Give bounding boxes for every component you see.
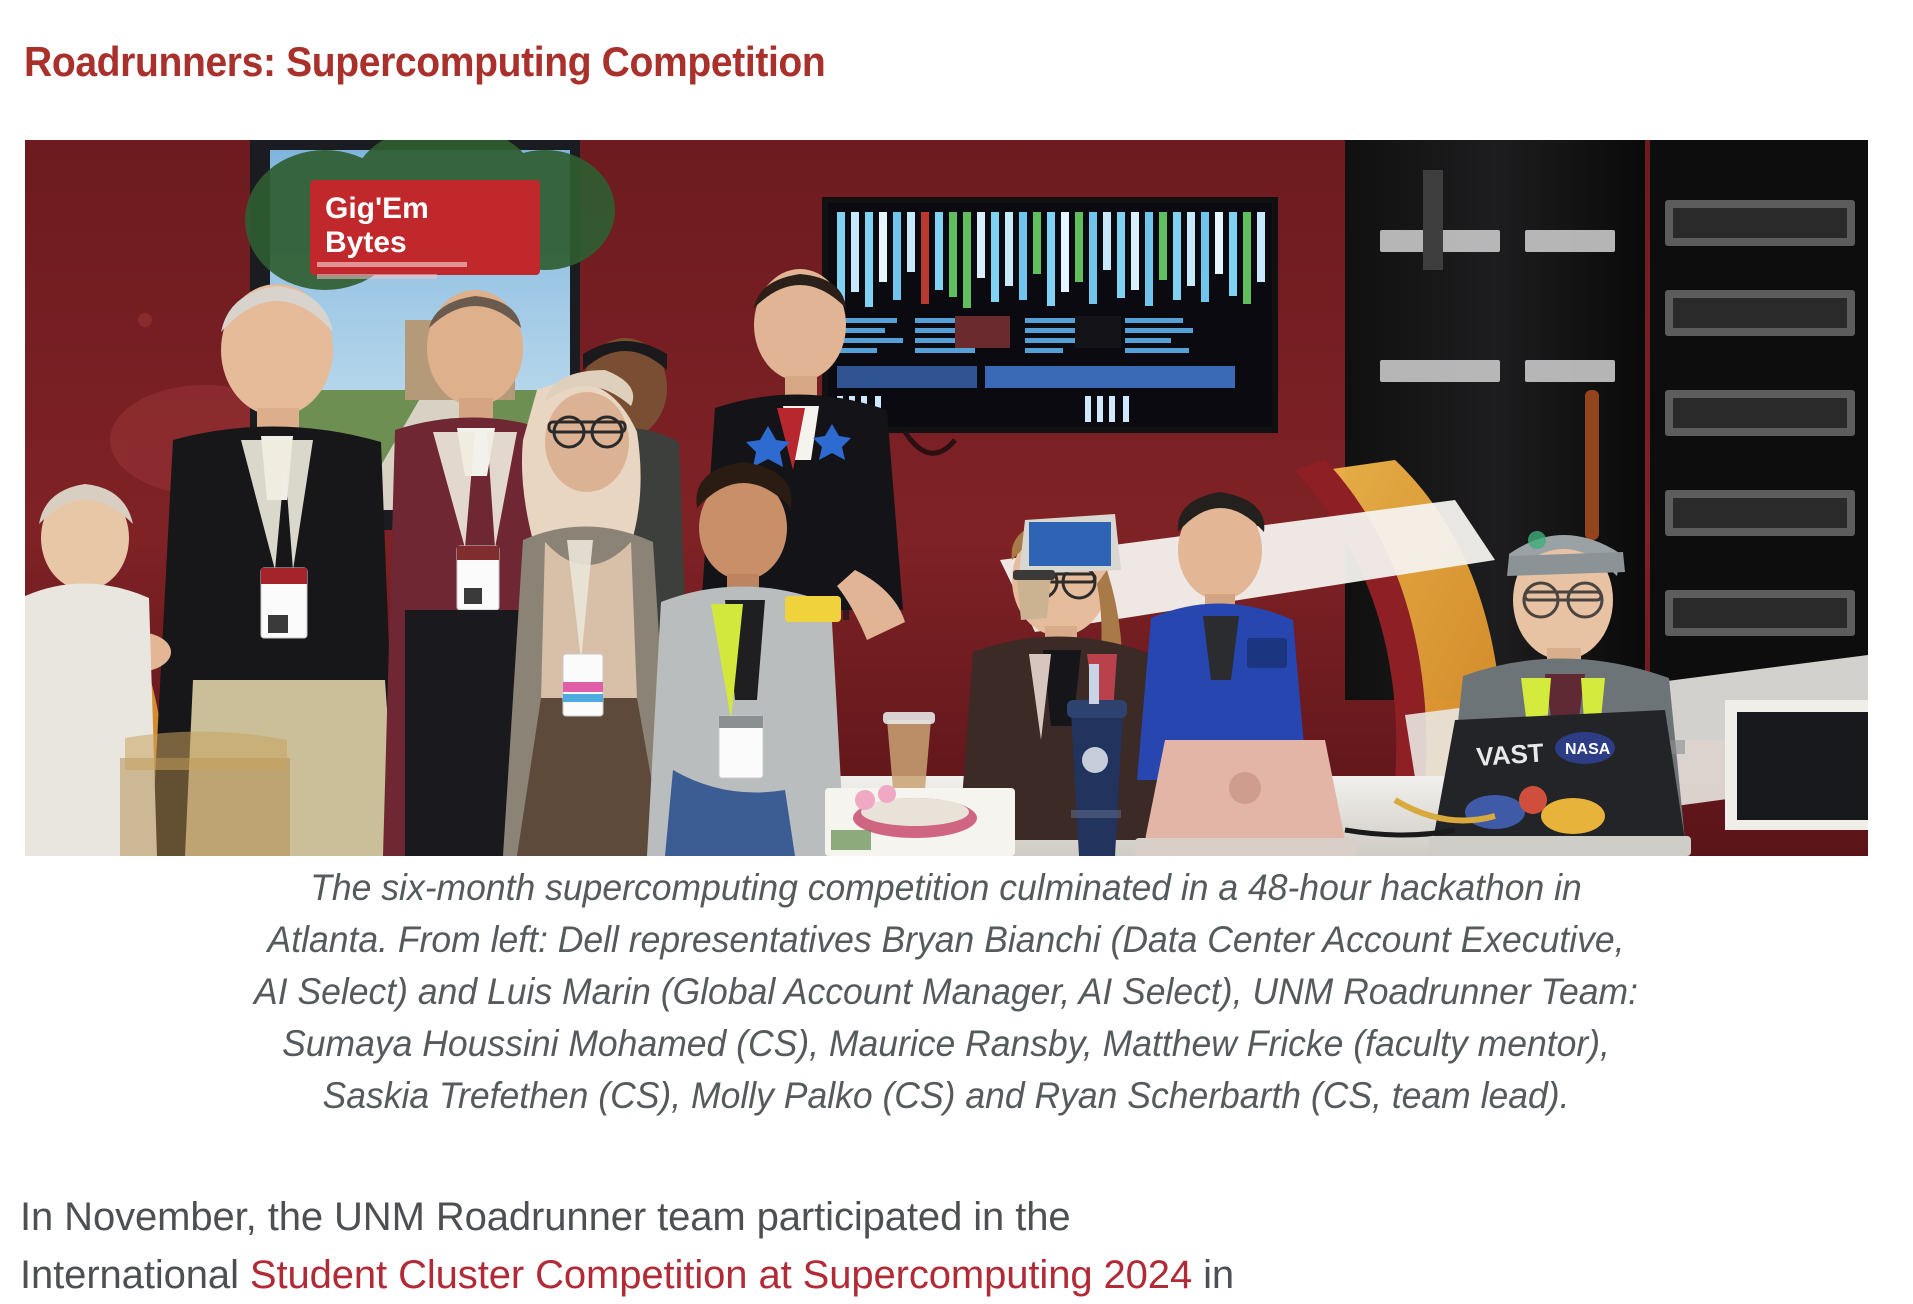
photo-caption: The six-month supercomputing competition… (55, 862, 1837, 1122)
caption-line-2: Atlanta. From left: Dell representatives… (55, 914, 1837, 966)
caption-line-3: AI Select) and Luis Marin (Global Accoun… (55, 966, 1837, 1018)
laptop-rosegold (1135, 740, 1357, 856)
caption-line-5: Saskia Trefethen (CS), Molly Palko (CS) … (55, 1070, 1837, 1122)
caption-line-4: Sumaya Houssini Mohamed (CS), Maurice Ra… (55, 1018, 1837, 1070)
svg-text:VAST: VAST (1475, 737, 1544, 772)
laptop-back-blue (1019, 514, 1121, 574)
monitor-right (1725, 700, 1868, 830)
svg-text:Gig'Em: Gig'Em (325, 192, 429, 225)
article-page: Roadrunners: Supercomputing Competition (0, 0, 1913, 1273)
photo-illustration: Gig'Em Bytes (25, 140, 1868, 856)
laptop-stickers: VAST NASA (1429, 710, 1691, 856)
svg-text:NASA: NASA (1565, 741, 1611, 758)
student-cluster-competition-link[interactable]: Student Cluster Competition at Supercomp… (250, 1253, 1192, 1297)
article-body-paragraph: In November, the UNM Roadrunner team par… (20, 1188, 1900, 1304)
body-line-2-suffix: in (1192, 1253, 1234, 1297)
svg-text:Bytes: Bytes (325, 226, 407, 259)
snack-tray (825, 785, 1015, 856)
body-line-1: In November, the UNM Roadrunner team par… (20, 1188, 1900, 1246)
body-line-2: International Student Cluster Competitio… (20, 1246, 1900, 1304)
body-line-2-prefix: International (20, 1253, 250, 1297)
article-photo: Gig'Em Bytes (25, 140, 1868, 856)
page-title: Roadrunners: Supercomputing Competition (24, 36, 1512, 88)
caption-line-1: The six-month supercomputing competition… (55, 862, 1837, 914)
